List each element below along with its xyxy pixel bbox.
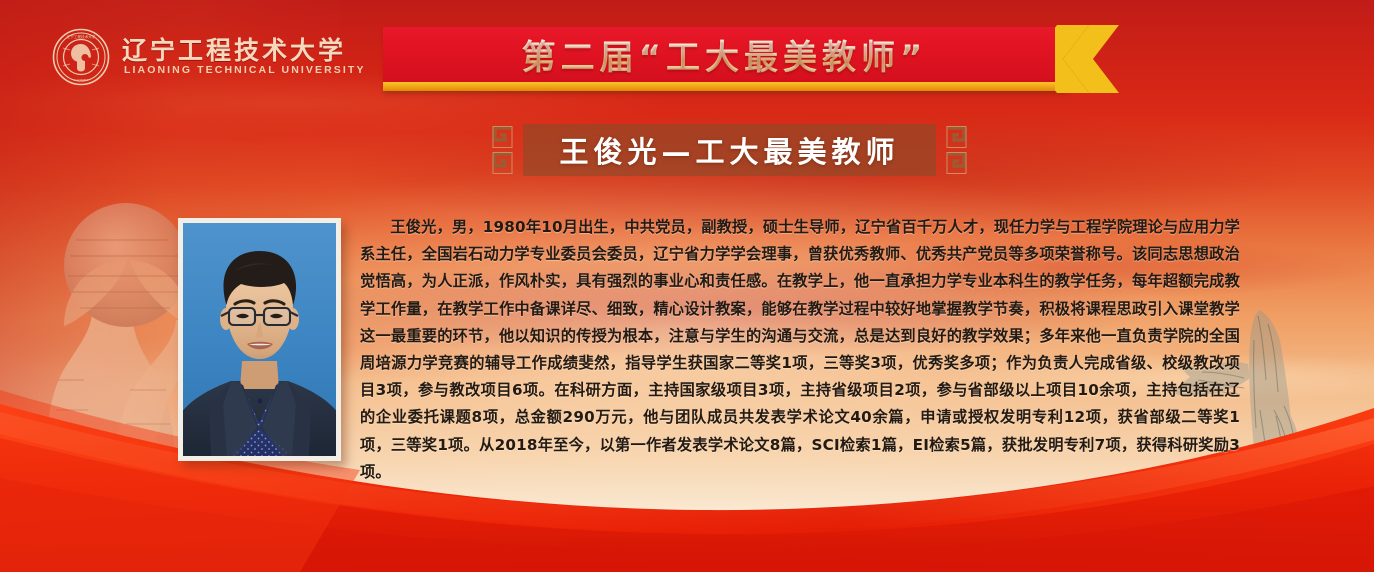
chevron-left-icon: [1055, 25, 1121, 93]
biography-block: 王俊光，男，1980年10月出生，中共党员，副教授，硕士生导师，辽宁省百千万人才…: [360, 214, 1240, 486]
portrait-frame: [178, 218, 341, 461]
greek-key-ornament-icon: [489, 124, 515, 176]
greek-key-ornament-icon: [944, 124, 970, 176]
svg-text:辽宁工程技术大学: 辽宁工程技术大学: [67, 34, 96, 39]
subtitle-text: 王俊光—工大最美教师: [559, 129, 899, 171]
award-poster: 辽宁工程技术大学 LIAONING 辽宁工程技术大学 LIAONING TECH…: [0, 0, 1374, 572]
university-seal-icon: 辽宁工程技术大学 LIAONING: [52, 28, 110, 86]
university-logo: 辽宁工程技术大学 LIAONING 辽宁工程技术大学 LIAONING TECH…: [52, 28, 366, 86]
main-banner: 第二届“工大最美教师”: [383, 27, 1066, 91]
portrait-photo: [183, 223, 336, 456]
biography-text: 王俊光，男，1980年10月出生，中共党员，副教授，硕士生导师，辽宁省百千万人才…: [360, 214, 1240, 486]
subtitle-plate: 王俊光—工大最美教师: [523, 124, 936, 176]
banner-title: 第二届“工大最美教师”: [383, 27, 1066, 82]
banner-gold-strip: [383, 82, 1066, 91]
university-name-cn: 辽宁工程技术大学: [122, 38, 366, 63]
subtitle-bar: 王俊光—工大最美教师: [489, 124, 970, 176]
university-name-en: LIAONING TECHNICAL UNIVERSITY: [122, 65, 366, 76]
svg-text:LIAONING: LIAONING: [74, 78, 89, 82]
